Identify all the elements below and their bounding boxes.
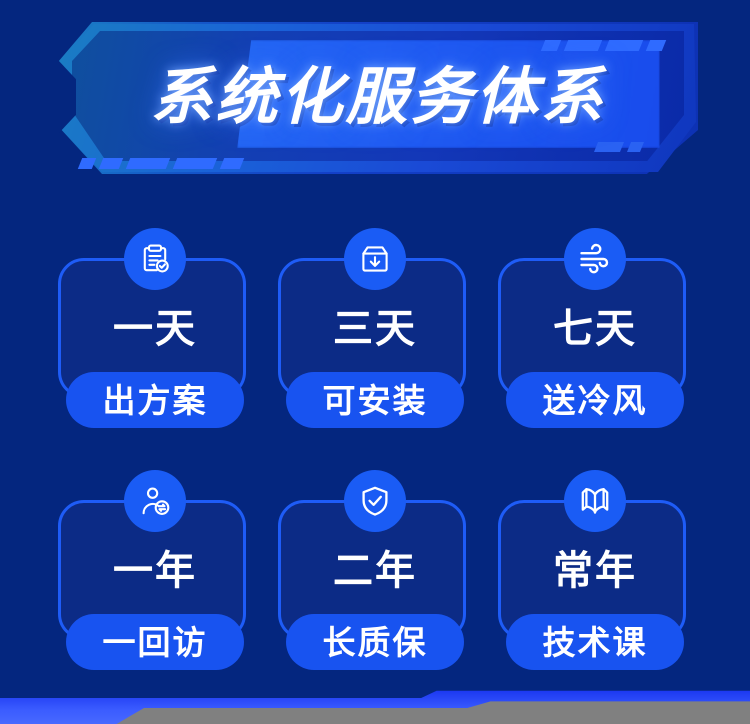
- card-title: 三天: [275, 306, 475, 352]
- card-pill[interactable]: 一回访: [66, 614, 244, 670]
- service-card[interactable]: 三天 可安装: [275, 228, 475, 428]
- card-pill[interactable]: 长质保: [286, 614, 464, 670]
- service-card[interactable]: 七天 送冷风: [495, 228, 695, 428]
- card-pill[interactable]: 可安装: [286, 372, 464, 428]
- card-pill[interactable]: 出方案: [66, 372, 244, 428]
- title-banner: 系统化服务体系: [58, 22, 698, 174]
- dash-mark: [78, 158, 96, 169]
- card-title: 二年: [275, 548, 475, 594]
- dash-mark: [173, 158, 217, 169]
- service-card[interactable]: 常年 技术课: [495, 470, 695, 670]
- page-title: 系统化服务体系: [58, 48, 698, 148]
- dash-mark: [220, 158, 244, 169]
- wind-icon: [564, 228, 626, 290]
- card-pill[interactable]: 送冷风: [506, 372, 684, 428]
- box-download-icon: [344, 228, 406, 290]
- card-pill[interactable]: 技术课: [506, 614, 684, 670]
- card-title: 一年: [55, 548, 255, 594]
- promo-graphic: 系统化服务体系 一天 出方案: [0, 0, 750, 724]
- shield-check-icon: [344, 470, 406, 532]
- card-pill-label: 长质保: [323, 626, 428, 659]
- card-pill-label: 技术课: [543, 626, 648, 659]
- clipboard-check-icon: [124, 228, 186, 290]
- person-sync-icon: [124, 470, 186, 532]
- card-title: 七天: [495, 306, 695, 352]
- card-pill-label: 出方案: [103, 384, 208, 417]
- service-card-grid: 一天 出方案 三天 可安装: [55, 228, 695, 712]
- service-card[interactable]: 一年 一回访: [55, 470, 255, 670]
- card-pill-label: 一回访: [103, 626, 208, 659]
- service-card[interactable]: 一天 出方案: [55, 228, 255, 428]
- card-pill-label: 可安装: [323, 384, 428, 417]
- card-title: 一天: [55, 306, 255, 352]
- dash-mark: [126, 158, 170, 169]
- card-title: 常年: [495, 548, 695, 594]
- open-book-icon: [564, 470, 626, 532]
- dash-mark: [99, 158, 123, 169]
- banner-dash-bottom-left: [80, 158, 242, 169]
- service-card[interactable]: 二年 长质保: [275, 470, 475, 670]
- card-pill-label: 送冷风: [543, 384, 648, 417]
